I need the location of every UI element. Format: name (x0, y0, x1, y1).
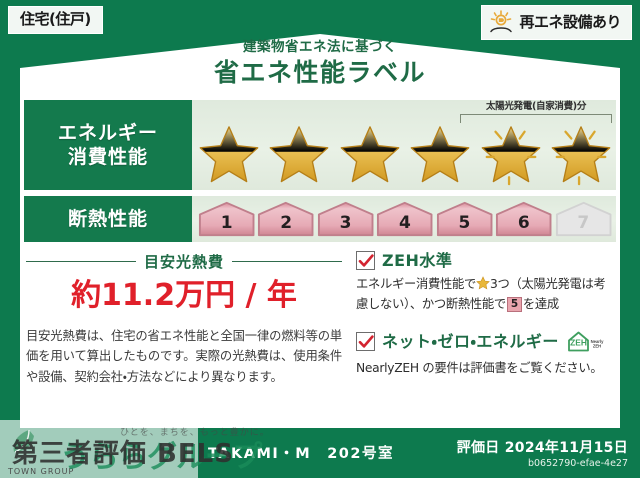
utility-cost-description: 目安光熱費は、住宅の省エネ性能と全国一律の燃料等の単価を用いて算出したものです。… (26, 326, 342, 388)
claim-net-zero-energy-head: ネット・ゼロ・エネルギー ZEH Nearly ZEH (356, 330, 616, 354)
insulation-level-number: 5 (458, 215, 470, 237)
svg-text:ZEH: ZEH (570, 337, 587, 347)
energy-performance-row: エネルギー 消費性能 太陽光発電(自家消費)分 (24, 100, 616, 190)
insulation-level-2: 2 (257, 201, 314, 237)
checkbox-checked-icon (356, 332, 375, 351)
utility-cost-heading-label: 目安光熱費 (144, 251, 224, 272)
label-title-main: 省エネ性能ラベル (0, 57, 640, 88)
label-title-block: 建築物省エネ法に基づく 省エネ性能ラベル (0, 40, 640, 88)
insulation-level-6: 6 (495, 201, 552, 237)
badge-dwelling-type: 住宅(住戸) (8, 6, 103, 34)
claim-zeh-standard-title: ZEH水準 (382, 253, 452, 269)
energy-performance-label-line1: エネルギー (58, 121, 158, 145)
utility-cost-value: 約11.2万円 / 年 (26, 279, 342, 314)
badge-dwelling-type-label: 住宅(住戸) (20, 10, 91, 28)
insulation-level-3: 3 (317, 201, 374, 237)
claim-zeh-standard-body-part3: を達成 (523, 297, 559, 311)
checkbox-checked-icon (356, 251, 375, 270)
footer-evaluation-date: 評価日 2024年11月15日 (457, 440, 628, 457)
insulation-level-number: 7 (577, 215, 589, 237)
insulation-level-1: 1 (198, 201, 255, 237)
claim-zeh-standard-body-part1: エネルギー消費性能で (356, 277, 476, 291)
insulation-level-badge: 5 (507, 297, 522, 312)
insulation-performance-label: 断熱性能 (24, 196, 192, 242)
star-icon-solar (480, 124, 542, 186)
star-icon-filled (268, 124, 330, 186)
insulation-level-7: 7 (555, 201, 612, 237)
star-icon (476, 276, 490, 290)
insulation-performance-body: 1 2 3 4 5 (192, 196, 616, 242)
solar-generation-annotation-label: 太陽光発電(自家消費)分 (460, 102, 612, 112)
energy-star-rating (198, 118, 612, 186)
energy-label-root: 住宅(住戸) 再エネ設備あり 建築物省エネ法に基づく 省エネ性能ラベル (0, 0, 640, 478)
insulation-level-number: 6 (518, 215, 530, 237)
star-icon-filled (409, 124, 471, 186)
label-title-sub: 建築物省エネ法に基づく (0, 40, 640, 55)
label-footer: TAKAMI・M 202号室 評価日 2024年11月15日 b0652790-… (0, 428, 640, 478)
insulation-level-number: 4 (399, 215, 411, 237)
claims-column: ZEH水準 エネルギー消費性能で3つ（太陽光発電は考慮しない）、かつ断熱性能で5… (346, 251, 616, 387)
insulation-performance-label-text: 断熱性能 (68, 207, 148, 231)
energy-performance-label: エネルギー 消費性能 (24, 100, 192, 190)
insulation-performance-row: 断熱性能 1 2 3 (24, 196, 616, 242)
insulation-level-scale: 1 2 3 4 5 (198, 200, 612, 238)
utility-cost-heading: 目安光熱費 (26, 251, 342, 272)
utility-cost-column: 目安光熱費 約11.2万円 / 年 目安光熱費は、住宅の省エネ性能と全国一律の燃… (24, 251, 346, 387)
claim-net-zero-energy: ネット・ゼロ・エネルギー ZEH Nearly ZEH NearlyZEH の要… (356, 330, 616, 379)
sun-solar-icon (488, 10, 514, 34)
footer-property-name: TAKAMI・M 202号室 (208, 442, 394, 463)
footer-evaluation-info: 評価日 2024年11月15日 b0652790-efae-4e27 (457, 440, 628, 470)
claim-zeh-standard-body: エネルギー消費性能で3つ（太陽光発電は考慮しない）、かつ断熱性能で5を達成 (356, 275, 616, 315)
badge-renewable-energy: 再エネ設備あり (481, 5, 632, 40)
solar-generation-annotation: 太陽光発電(自家消費)分 (460, 102, 612, 123)
claim-zeh-standard: ZEH水準 エネルギー消費性能で3つ（太陽光発電は考慮しない）、かつ断熱性能で5… (356, 251, 616, 315)
badge-renewable-energy-label: 再エネ設備あり (519, 15, 621, 30)
zeh-house-logo: ZEH Nearly ZEH (566, 330, 606, 354)
solar-generation-bracket (460, 114, 612, 123)
star-icon-solar (550, 124, 612, 186)
label-content: エネルギー 消費性能 太陽光発電(自家消費)分 (24, 100, 616, 426)
label-lower-section: 目安光熱費 約11.2万円 / 年 目安光熱費は、住宅の省エネ性能と全国一律の燃… (24, 251, 616, 387)
energy-performance-body: 太陽光発電(自家消費)分 (192, 100, 616, 190)
claim-zeh-standard-head: ZEH水準 (356, 251, 616, 270)
svg-text:ZEH: ZEH (593, 343, 601, 348)
claim-net-zero-energy-title: ネット・ゼロ・エネルギー (382, 334, 559, 350)
insulation-level-5: 5 (436, 201, 493, 237)
insulation-level-number: 2 (280, 215, 292, 237)
insulation-level-4: 4 (376, 201, 433, 237)
footer-evaluation-id: b0652790-efae-4e27 (457, 458, 628, 470)
insulation-level-number: 1 (221, 215, 233, 237)
insulation-level-number: 3 (340, 215, 352, 237)
energy-performance-label-line2: 消費性能 (68, 145, 148, 169)
star-icon-filled (198, 124, 260, 186)
claim-net-zero-energy-body: NearlyZEH の要件は評価書をご覧ください。 (356, 359, 616, 379)
star-icon-filled (339, 124, 401, 186)
